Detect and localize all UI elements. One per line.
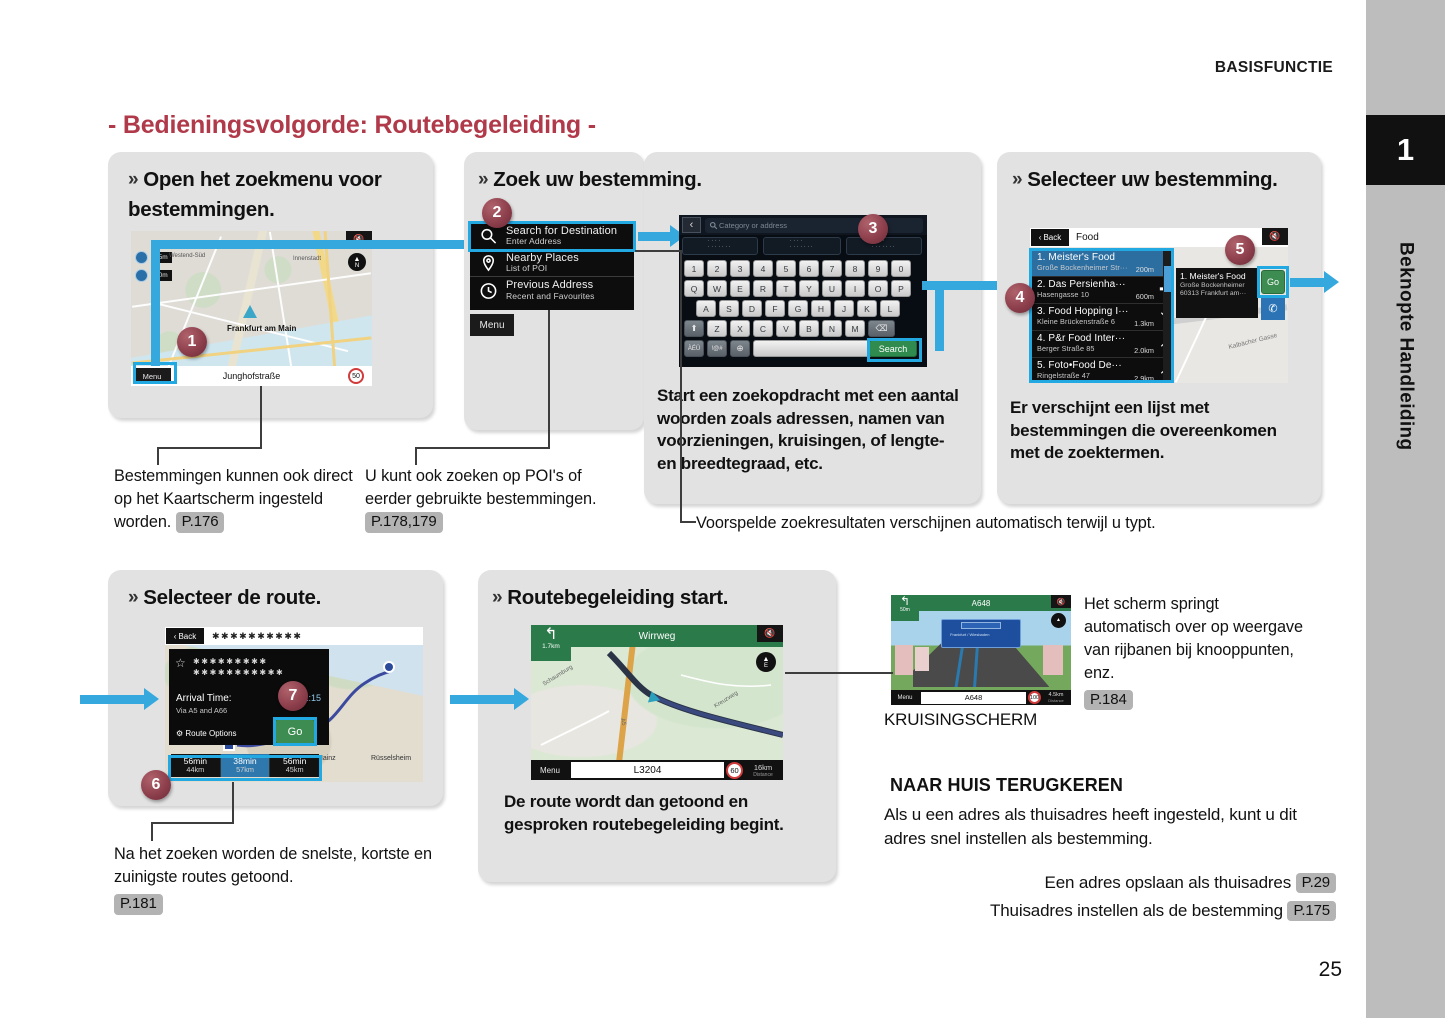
go-button-highlight-route xyxy=(273,717,317,746)
key-O[interactable]: O xyxy=(868,280,888,297)
key-V[interactable]: V xyxy=(776,320,796,337)
poi-category-title: Food xyxy=(1076,232,1099,243)
step-badge-4: 4 xyxy=(1005,283,1035,313)
guidance-road-name: Wirrweg xyxy=(639,631,676,642)
key-T[interactable]: T xyxy=(776,280,796,297)
page-ref[interactable]: P.184 xyxy=(1084,690,1133,710)
map-label-westend: Westend-Süd xyxy=(169,253,205,259)
go-button-highlight xyxy=(1257,266,1289,298)
shift-key[interactable]: ⬆ xyxy=(684,320,704,337)
accents-key[interactable]: ÀÉÜ xyxy=(684,340,704,357)
back-button[interactable]: ‹ Back xyxy=(1031,229,1069,246)
device-guidance-screen: Schaumburg A5 Kreuzweg Wirrweg ↰ 1.7km 🔇… xyxy=(531,625,783,780)
chapter-number-tab: 1 xyxy=(1366,115,1445,185)
keyboard-row-z: ⬆ Z X C V B N M ⌫ xyxy=(684,320,895,337)
key-F[interactable]: F xyxy=(765,300,785,317)
phone-icon[interactable]: ✆ xyxy=(1261,296,1285,320)
arrow-into-route-screen xyxy=(80,695,160,704)
speed-limit-sign: 60 xyxy=(726,762,743,779)
route-options-button[interactable]: ⚙ Route Options xyxy=(176,729,237,738)
key-7[interactable]: 7 xyxy=(822,260,842,277)
step-badge-1: 1 xyxy=(177,327,207,357)
junction-road-name: A648 xyxy=(972,599,991,608)
suggestion-2[interactable]: ··········· xyxy=(763,237,841,255)
keyboard-row-bottom: ÀÉÜ !@# ⊕ xyxy=(684,340,873,357)
leader-line-1b xyxy=(157,447,262,449)
key-D[interactable]: D xyxy=(742,300,762,317)
chevron-icon: » xyxy=(492,585,502,612)
step1-heading: »Open het zoekmenu voor bestemmingen. xyxy=(128,165,418,224)
junction-current-road: A648 xyxy=(921,692,1026,704)
junction-description: Het scherm springt automatisch over op w… xyxy=(1084,593,1309,712)
search-input-placeholder: Category or address xyxy=(719,221,787,230)
junction-turn-indicator: ↰ 50m xyxy=(891,595,919,621)
menu-button[interactable]: Menu xyxy=(531,766,569,775)
key-B[interactable]: B xyxy=(799,320,819,337)
leader-line-4 xyxy=(232,782,234,824)
menu-row-sub: List of POI xyxy=(506,264,579,273)
route-fav-mask-1: ✱✱✱✱✱✱✱✱✱ xyxy=(193,657,268,667)
menu-button[interactable]: Menu xyxy=(891,695,919,701)
route-destination-mask: ✱✱✱✱✱✱✱✱✱✱ xyxy=(212,631,302,642)
step-badge-5: 5 xyxy=(1225,235,1255,265)
poi-info-bubble: 1. Meister's Food Große Bockenheimer 603… xyxy=(1176,268,1258,318)
leader-line-4c xyxy=(151,822,153,841)
leader-line-2b xyxy=(415,447,550,449)
compass-icon[interactable]: ▲N xyxy=(348,253,366,271)
key-N[interactable]: N xyxy=(822,320,842,337)
key-1[interactable]: 1 xyxy=(684,260,704,277)
speed-limit-sign: 100 xyxy=(1028,691,1041,704)
zoom-out-button[interactable] xyxy=(135,269,148,282)
key-H[interactable]: H xyxy=(811,300,831,317)
home-link-2: Thuisadres instellen als de bestemming P… xyxy=(820,899,1336,923)
chevron-icon: » xyxy=(128,167,138,194)
home-link-1: Een adres opslaan als thuisadres P.29 xyxy=(884,871,1336,895)
running-head: BASISFUNCTIE xyxy=(1215,59,1333,77)
junction-sign: Frankfurt / Wiesbaden xyxy=(941,619,1020,648)
route-options-highlight xyxy=(168,755,322,781)
page-ref[interactable]: P.176 xyxy=(176,512,225,532)
key-Q[interactable]: Q xyxy=(684,280,704,297)
remaining-distance: 16km Distance xyxy=(743,763,783,778)
step5-note: De route wordt dan getoond en gesproken … xyxy=(504,791,804,836)
step2-heading: »Zoek uw bestemming. xyxy=(478,165,808,195)
speed-limit-sign: 50 xyxy=(348,368,364,384)
keyboard-top-bar: ‹ Category or address xyxy=(679,215,927,235)
home-section-title: NAAR HUIS TERUGKEREN xyxy=(890,775,1123,796)
arrow-go-to-route xyxy=(1290,278,1340,287)
menu-row-sub: Recent and Favourites xyxy=(506,292,595,301)
callout-4: Na het zoeken worden de snelste, kortste… xyxy=(114,843,444,916)
leader-line-1c xyxy=(157,447,159,465)
key-8[interactable]: 8 xyxy=(845,260,865,277)
bubble-address-line1: Große Bockenheimer xyxy=(1180,282,1254,290)
compass-icon[interactable]: ▲E xyxy=(756,652,776,672)
junction-turn-distance: 50m xyxy=(891,607,919,613)
route-top-bar: ‹ Back ✱✱✱✱✱✱✱✱✱✱ xyxy=(165,627,423,645)
zoom-in-button[interactable] xyxy=(135,251,148,264)
menu-row-nearby-places[interactable]: Nearby Places List of POI xyxy=(470,250,634,277)
key-P[interactable]: P xyxy=(891,280,911,297)
key-U[interactable]: U xyxy=(822,280,842,297)
chevron-icon: » xyxy=(478,167,488,194)
leader-line-2c xyxy=(415,447,417,465)
vehicle-position-icon xyxy=(243,305,257,318)
backspace-key[interactable]: ⌫ xyxy=(868,320,895,337)
key-X[interactable]: X xyxy=(730,320,750,337)
key-K[interactable]: K xyxy=(857,300,877,317)
callout-2: U kunt ook zoeken op POI's of eerder geb… xyxy=(365,465,617,534)
page-ref[interactable]: P.181 xyxy=(114,894,163,914)
leader-line-2 xyxy=(548,310,550,447)
leader-line-1 xyxy=(260,386,262,449)
key-9[interactable]: 9 xyxy=(868,260,888,277)
page-ref[interactable]: P.178,179 xyxy=(365,512,443,532)
callout-1: Bestemmingen kunnen ook direct op het Ka… xyxy=(114,465,364,534)
key-Y[interactable]: Y xyxy=(799,280,819,297)
step-badge-2: 2 xyxy=(482,198,512,228)
key-0[interactable]: 0 xyxy=(891,260,911,277)
mute-icon[interactable]: 🔇 xyxy=(1262,228,1288,245)
search-input[interactable]: Category or address xyxy=(705,218,923,233)
current-street: L3204 xyxy=(571,762,724,778)
page-ref[interactable]: P.29 xyxy=(1296,873,1336,893)
search-button-highlight xyxy=(867,338,922,362)
turn-distance: 1.7km xyxy=(531,643,571,650)
leader-line-3 xyxy=(680,250,682,522)
step5-heading: »Routebegeleiding start. xyxy=(492,583,822,613)
keyboard-row-numbers: 1 2 3 4 5 6 7 8 9 0 xyxy=(684,260,911,277)
key-4[interactable]: 4 xyxy=(753,260,773,277)
space-key[interactable] xyxy=(753,340,873,357)
step-badge-7: 7 xyxy=(278,681,308,711)
keyboard-row-q: Q W E R T Y U I O P xyxy=(684,280,911,297)
compass-icon[interactable]: ▲ xyxy=(1051,613,1066,628)
bubble-name: 1. Meister's Food xyxy=(1180,271,1254,282)
suggestion-1[interactable]: ··········· xyxy=(682,237,758,255)
back-button[interactable]: ‹ xyxy=(682,217,701,233)
key-L[interactable]: L xyxy=(880,300,900,317)
key-W[interactable]: W xyxy=(707,280,727,297)
leader-line-4b xyxy=(151,822,234,824)
route-via: Via A5 and A66 xyxy=(176,706,227,715)
menu-row-previous-address[interactable]: Previous Address Recent and Favourites xyxy=(470,277,634,304)
step3-heading: »Selecteer uw bestemming. xyxy=(1012,165,1282,195)
leader-line-3c xyxy=(635,250,681,252)
key-C[interactable]: C xyxy=(753,320,773,337)
page-ref[interactable]: P.175 xyxy=(1287,901,1336,921)
arrival-time-label: Arrival Time: xyxy=(176,693,232,704)
key-M[interactable]: M xyxy=(845,320,865,337)
step2-note: Start een zoekopdracht met een aantal wo… xyxy=(657,385,967,475)
home-section-body: Als u een adres als thuisadres heeft ing… xyxy=(884,803,1336,851)
key-A[interactable]: A xyxy=(696,300,716,317)
chevron-icon: » xyxy=(1012,167,1022,194)
suggestion-3[interactable]: ··········· xyxy=(846,237,922,255)
step4-heading: »Selecteer de route. xyxy=(128,583,428,613)
leader-line-junction xyxy=(785,672,893,674)
step3-note: Er verschijnt een lijst met bestemmingen… xyxy=(1010,397,1295,465)
key-I[interactable]: I xyxy=(845,280,865,297)
back-button[interactable]: ‹ Back xyxy=(166,628,204,644)
key-6[interactable]: 6 xyxy=(799,260,819,277)
key-E[interactable]: E xyxy=(730,280,750,297)
route-fav-mask-2: ✱✱✱✱✱✱✱✱✱✱✱ xyxy=(193,668,284,678)
page-title: - Bedieningsvolgorde: Routebegeleiding - xyxy=(108,111,596,140)
turn-indicator: ↰ 1.7km xyxy=(531,625,571,661)
map-street-name: Junghofstraße xyxy=(223,371,281,381)
arrow-into-guidance-screen xyxy=(450,695,530,704)
chapter-label: Beknopte Handleiding xyxy=(1366,196,1445,496)
key-R[interactable]: R xyxy=(753,280,773,297)
map-label-innenstadt: Innenstadt xyxy=(293,256,321,262)
key-S[interactable]: S xyxy=(719,300,739,317)
key-5[interactable]: 5 xyxy=(776,260,796,277)
step-badge-6: 6 xyxy=(141,770,171,800)
poi-list-highlight xyxy=(1029,248,1174,383)
gear-icon: ⚙ xyxy=(176,729,183,738)
mute-icon[interactable]: 🔇 xyxy=(1051,595,1071,608)
key-G[interactable]: G xyxy=(788,300,808,317)
chevron-icon: » xyxy=(128,585,138,612)
key-3[interactable]: 3 xyxy=(730,260,750,277)
device-junction-screen: Frankfurt / Wiesbaden A648 ↰ 50m 🔇 ▲ Men… xyxy=(891,595,1071,705)
key-J[interactable]: J xyxy=(834,300,854,317)
pin-icon xyxy=(479,254,498,273)
bubble-address-line2: 60313 Frankfurt am··· xyxy=(1180,290,1254,298)
key-2[interactable]: 2 xyxy=(707,260,727,277)
junction-caption: KRUISINGSCHERM xyxy=(884,710,1037,730)
guidance-bottom-bar: Menu L3204 60 16km Distance xyxy=(531,760,783,780)
keyboard-row-a: A S D F G H J K L xyxy=(696,300,900,317)
page-number: 25 xyxy=(1319,958,1342,982)
menu-button-step2[interactable]: Menu xyxy=(470,314,514,336)
leader-line-3b xyxy=(680,521,696,523)
key-Z[interactable]: Z xyxy=(707,320,727,337)
junction-remaining-distance: 4.5km Distance xyxy=(1041,692,1071,703)
junction-bottom-bar: Menu A648 100 4.5km Distance xyxy=(891,690,1071,705)
symbols-key[interactable]: !@# xyxy=(707,340,727,357)
clock-icon xyxy=(479,281,498,300)
globe-icon[interactable]: ⊕ xyxy=(730,340,750,357)
step-badge-3: 3 xyxy=(858,214,888,244)
callout-3: Voorspelde zoekresultaten verschijnen au… xyxy=(696,512,1256,535)
map-city-label: Frankfurt am Main xyxy=(227,324,296,333)
mute-icon[interactable]: 🔇 xyxy=(757,625,783,642)
